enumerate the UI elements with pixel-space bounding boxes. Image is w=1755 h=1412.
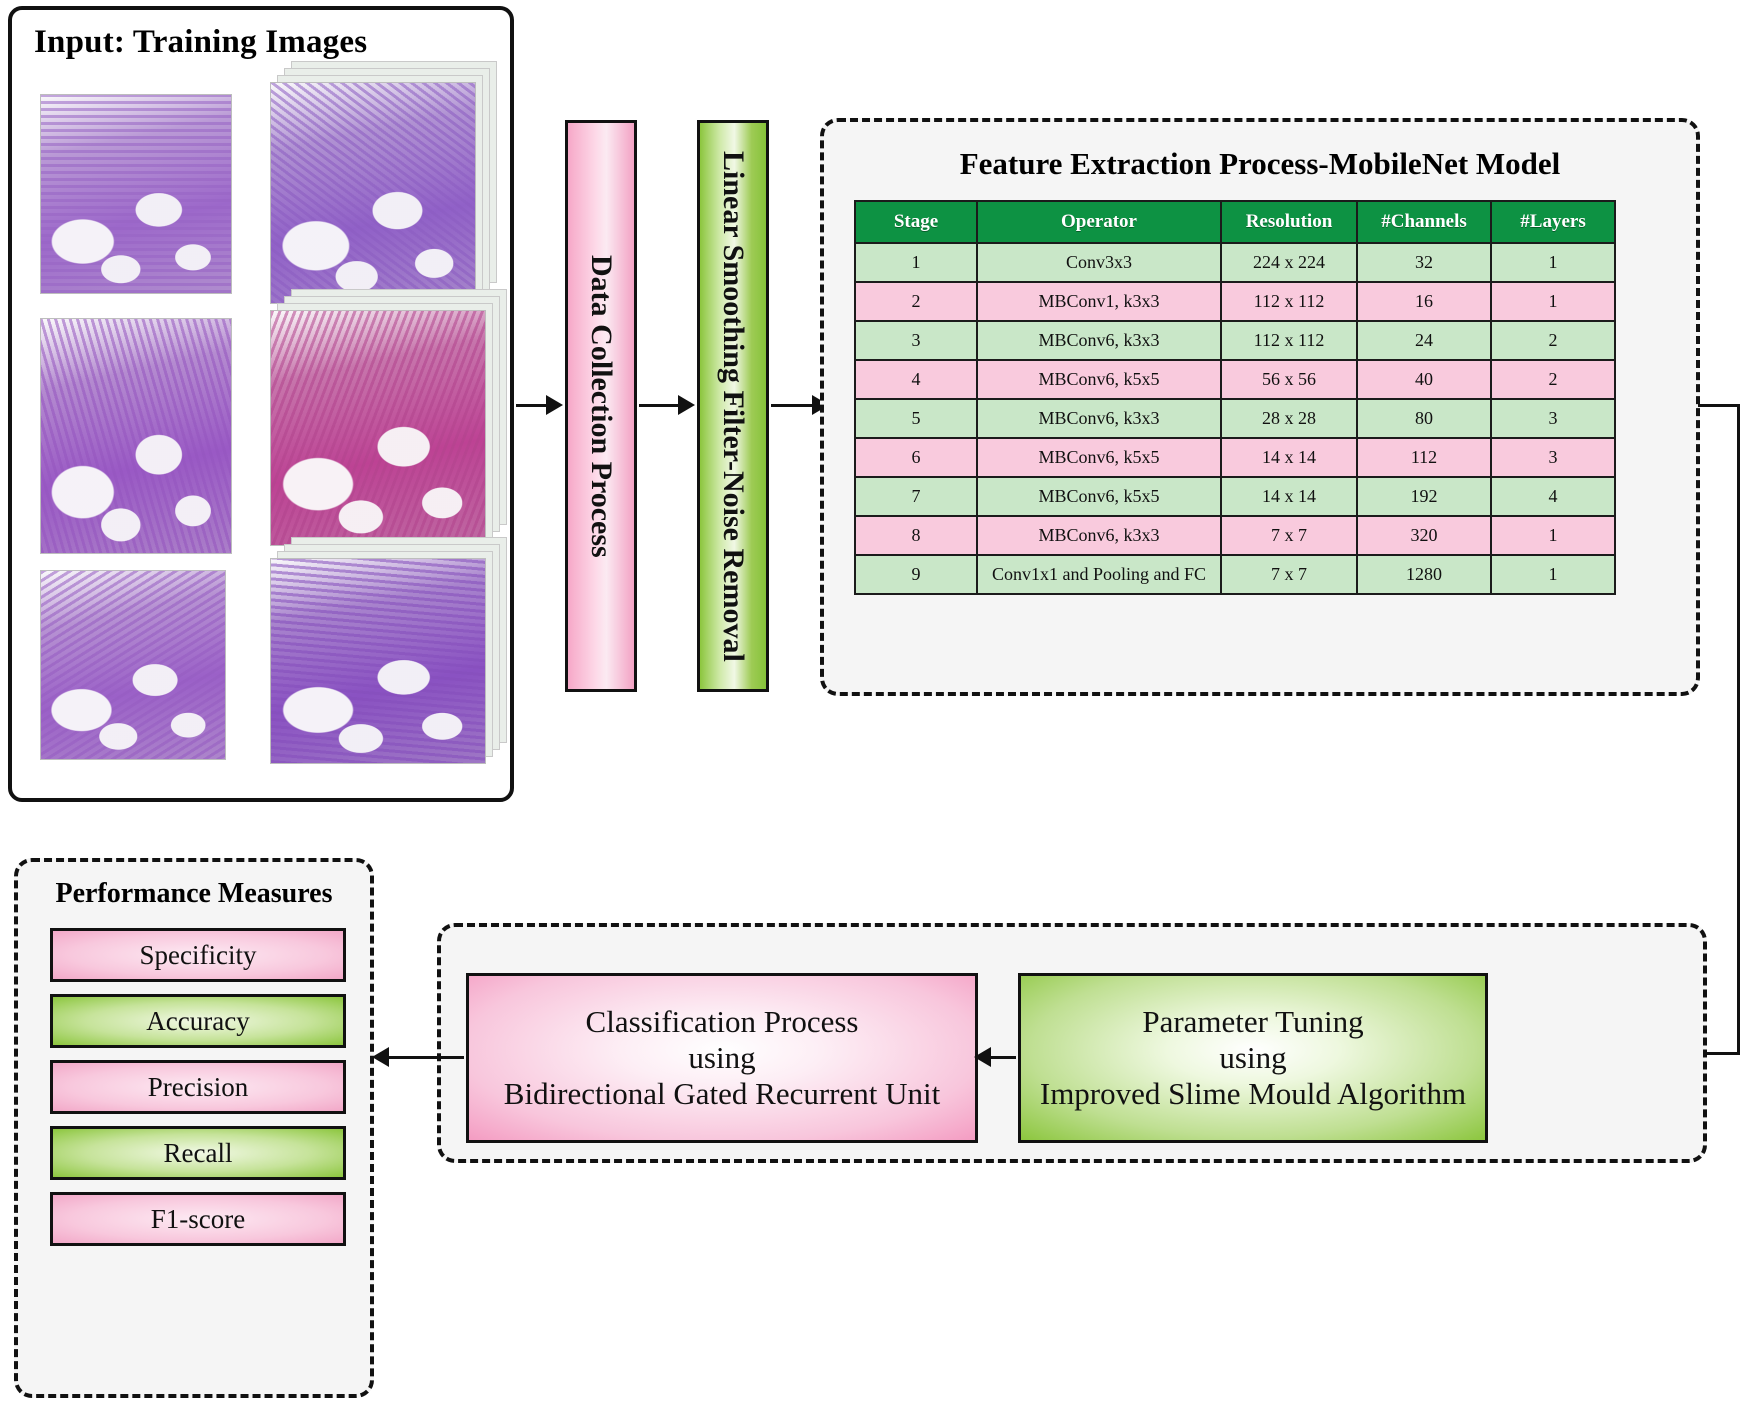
training-image-thumbnail [40,94,232,294]
cell-operator: MBConv6, k3x3 [977,516,1221,555]
parameter-tuning-box[interactable]: Parameter Tuning using Improved Slime Mo… [1018,973,1488,1143]
performance-measures-panel: Performance Measures SpecificityAccuracy… [14,858,374,1398]
cell-resolution: 28 x 28 [1221,399,1357,438]
training-image-thumbnail [270,310,486,546]
cell-operator: MBConv6, k3x3 [977,399,1221,438]
training-image-stack [40,570,226,760]
cell-channels: 192 [1357,477,1491,516]
training-image-stack [270,310,486,546]
connector-right-down [1737,404,1740,1054]
data-collection-process-label: Data Collection Process [586,255,616,558]
cell-channels: 320 [1357,516,1491,555]
classification-line-1: Classification Process [586,1004,859,1040]
table-row: 4MBConv6, k5x556 x 56402 [855,360,1615,399]
cell-layers: 3 [1491,399,1615,438]
cell-resolution: 14 x 14 [1221,477,1357,516]
table-row: 3MBConv6, k3x3112 x 112242 [855,321,1615,360]
cell-stage: 4 [855,360,977,399]
input-panel-title: Input: Training Images [34,24,367,61]
cell-stage: 9 [855,555,977,594]
training-image-thumbnail [270,82,476,304]
cell-resolution: 56 x 56 [1221,360,1357,399]
cell-resolution: 112 x 112 [1221,282,1357,321]
table-row: 8MBConv6, k3x37 x 73201 [855,516,1615,555]
cell-channels: 80 [1357,399,1491,438]
cell-stage: 7 [855,477,977,516]
connector-classify-to-performance [386,1056,464,1059]
cell-channels: 32 [1357,243,1491,282]
arrow-tuning-to-classify [974,1047,991,1067]
mobilenet-architecture-table: Stage Operator Resolution #Channels #Lay… [854,200,1616,595]
cell-operator: MBConv6, k5x5 [977,438,1221,477]
column-header-channels: #Channels [1357,201,1491,243]
tuning-line-3: Improved Slime Mould Algorithm [1040,1076,1466,1112]
tissue-texture [271,83,475,303]
data-collection-process-bar[interactable]: Data Collection Process [565,120,637,692]
column-header-layers: #Layers [1491,201,1615,243]
cell-stage: 2 [855,282,977,321]
cell-stage: 5 [855,399,977,438]
cell-operator: Conv3x3 [977,243,1221,282]
cell-resolution: 7 x 7 [1221,516,1357,555]
cell-resolution: 224 x 224 [1221,243,1357,282]
linear-smoothing-filter-label: Linear Smoothing Filter-Noise Removal [718,151,748,662]
column-header-stage: Stage [855,201,977,243]
table-row: 6MBConv6, k5x514 x 141123 [855,438,1615,477]
table-row: 1Conv3x3224 x 224321 [855,243,1615,282]
cell-operator: MBConv6, k5x5 [977,477,1221,516]
cell-layers: 1 [1491,243,1615,282]
tissue-texture [41,571,225,759]
tissue-texture [41,319,231,553]
cell-resolution: 7 x 7 [1221,555,1357,594]
connector-feature-right [1698,404,1740,407]
cell-layers: 2 [1491,360,1615,399]
cell-resolution: 14 x 14 [1221,438,1357,477]
tissue-texture [271,559,485,763]
arrow-input-to-data [546,395,563,415]
tuning-line-1: Parameter Tuning [1142,1004,1363,1040]
tissue-texture [271,311,485,545]
column-header-resolution: Resolution [1221,201,1357,243]
feature-extraction-panel: Feature Extraction Process-MobileNet Mod… [820,118,1700,696]
linear-smoothing-filter-bar[interactable]: Linear Smoothing Filter-Noise Removal [697,120,769,692]
cell-layers: 1 [1491,555,1615,594]
cell-channels: 16 [1357,282,1491,321]
table-row: 2MBConv1, k3x3112 x 112161 [855,282,1615,321]
arrow-classify-to-performance [372,1047,389,1067]
training-image-thumbnail [40,570,226,760]
performance-metric-recall[interactable]: Recall [50,1126,346,1180]
training-image-stack [270,558,486,764]
connector-tuning-to-classify [988,1056,1016,1059]
performance-measures-title: Performance Measures [18,878,370,910]
classification-line-3: Bidirectional Gated Recurrent Unit [504,1076,940,1112]
tuning-line-2: using [1219,1040,1286,1076]
training-image-stack [40,318,232,554]
cell-stage: 3 [855,321,977,360]
cell-channels: 1280 [1357,555,1491,594]
cell-layers: 4 [1491,477,1615,516]
cell-stage: 6 [855,438,977,477]
arrow-data-to-filter [678,395,695,415]
performance-metric-accuracy[interactable]: Accuracy [50,994,346,1048]
connector-filter-to-feature [771,404,813,407]
cell-channels: 24 [1357,321,1491,360]
cell-layers: 1 [1491,282,1615,321]
performance-metric-precision[interactable]: Precision [50,1060,346,1114]
performance-metric-specificity[interactable]: Specificity [50,928,346,982]
cell-resolution: 112 x 112 [1221,321,1357,360]
cell-operator: MBConv6, k3x3 [977,321,1221,360]
cell-layers: 3 [1491,438,1615,477]
cell-stage: 8 [855,516,977,555]
table-header-row: Stage Operator Resolution #Channels #Lay… [855,201,1615,243]
performance-metric-f1-score[interactable]: F1-score [50,1192,346,1246]
classification-line-2: using [688,1040,755,1076]
cell-channels: 112 [1357,438,1491,477]
table-row: 5MBConv6, k3x328 x 28803 [855,399,1615,438]
training-image-thumbnail [270,558,486,764]
training-image-thumbnail [40,318,232,554]
input-training-images-panel: Input: Training Images [8,6,514,802]
cell-layers: 1 [1491,516,1615,555]
cell-channels: 40 [1357,360,1491,399]
tissue-texture [41,95,231,293]
cell-layers: 2 [1491,321,1615,360]
connector-input-to-data [516,404,548,407]
column-header-operator: Operator [977,201,1221,243]
feature-extraction-title: Feature Extraction Process-MobileNet Mod… [824,146,1696,182]
classification-process-box[interactable]: Classification Process using Bidirection… [466,973,978,1143]
training-image-stack [270,82,476,304]
table-row: 7MBConv6, k5x514 x 141924 [855,477,1615,516]
cell-operator: Conv1x1 and Pooling and FC [977,555,1221,594]
training-image-stack [40,94,232,294]
cell-operator: MBConv1, k3x3 [977,282,1221,321]
table-row: 9Conv1x1 and Pooling and FC7 x 712801 [855,555,1615,594]
cell-stage: 1 [855,243,977,282]
cell-operator: MBConv6, k5x5 [977,360,1221,399]
connector-data-to-filter [639,404,679,407]
